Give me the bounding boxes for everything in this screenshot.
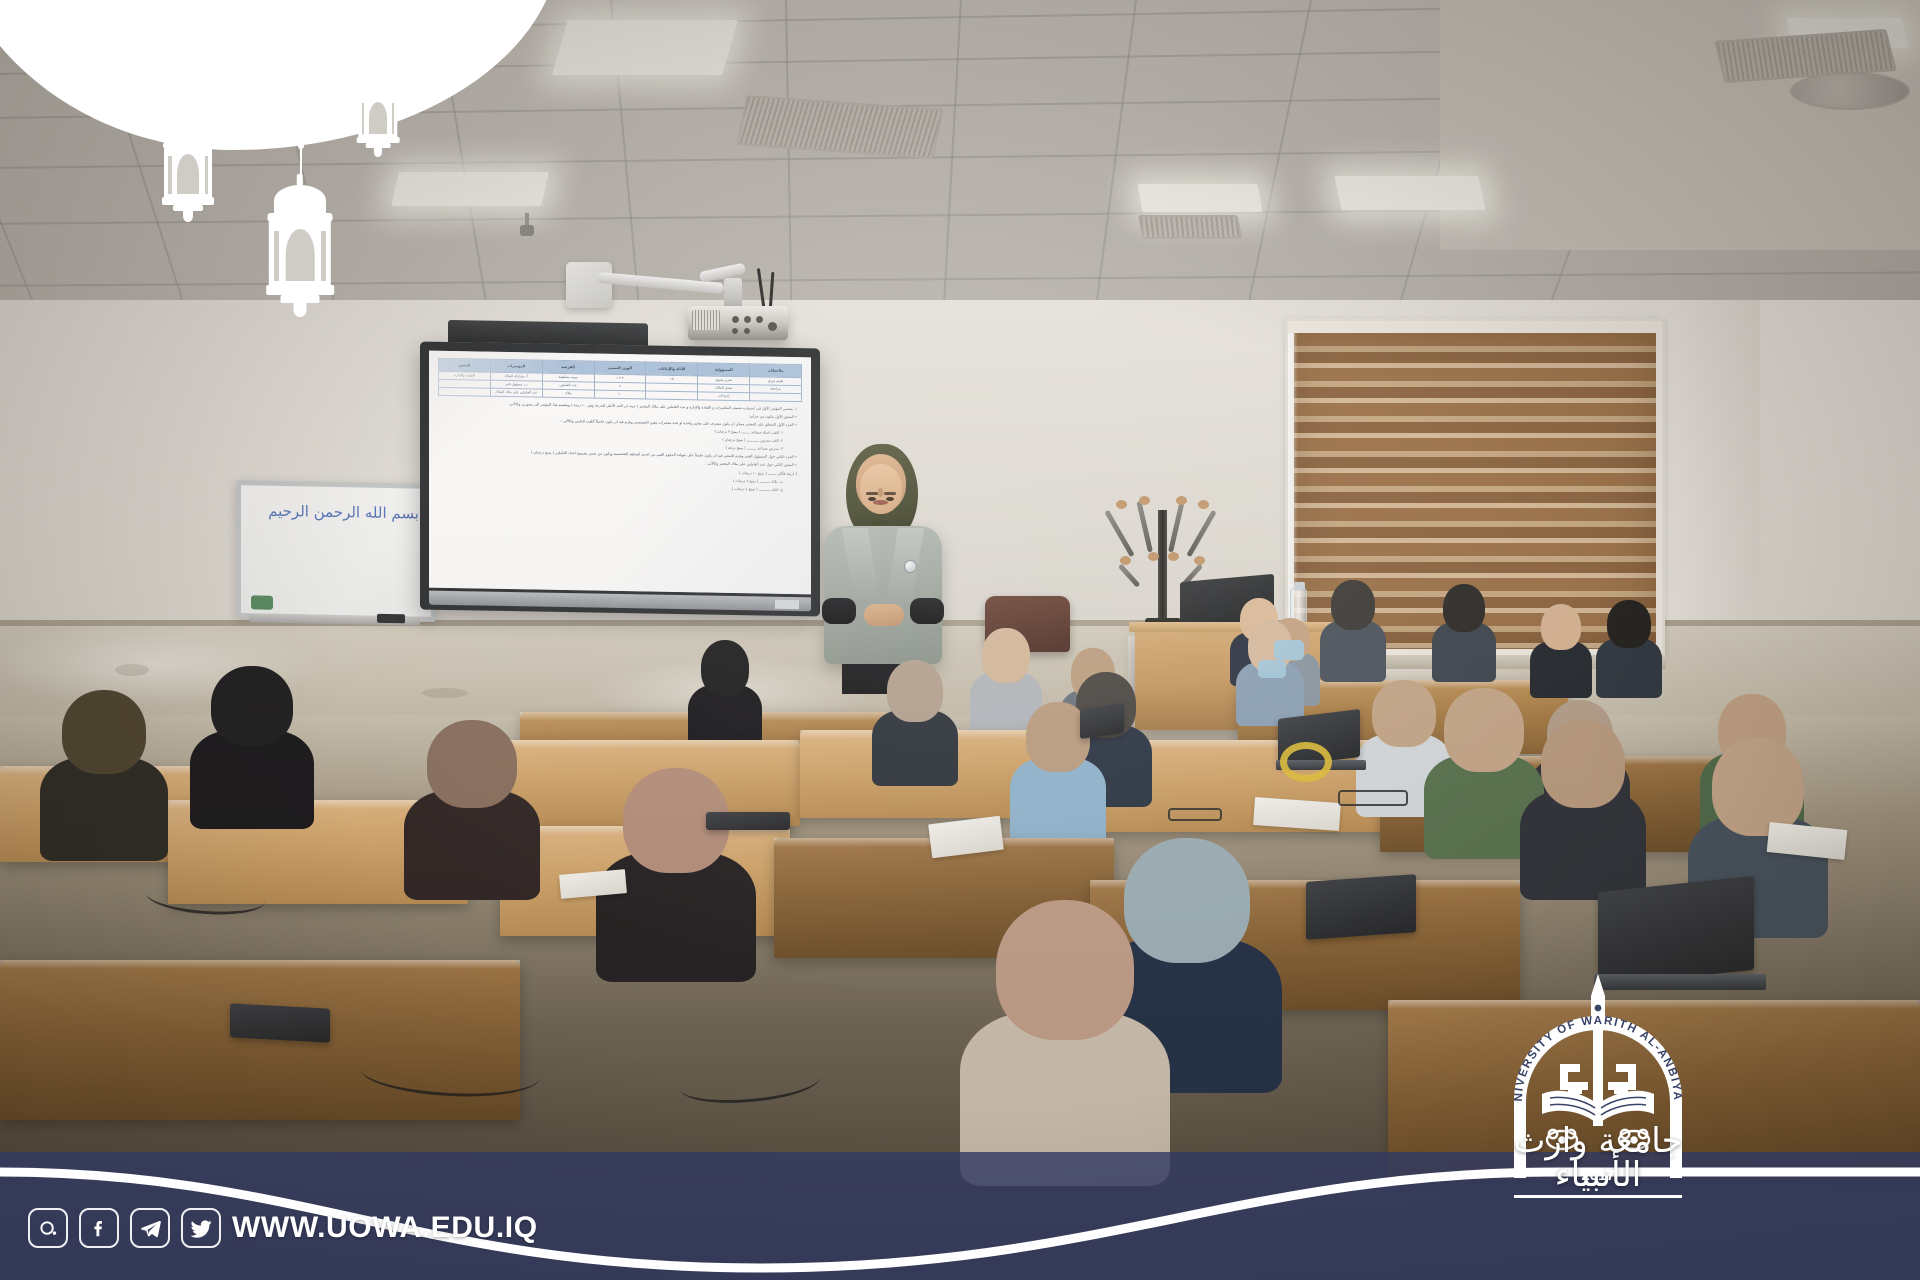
decor-lanterns — [0, 0, 620, 320]
logo-baseline-rule — [1514, 1195, 1682, 1198]
twitter-icon[interactable] — [181, 1208, 221, 1248]
lantern-cord-bead — [376, 61, 382, 67]
audience-person-right-2 — [1520, 720, 1646, 896]
cable-2 — [679, 1058, 822, 1108]
person-head — [211, 666, 293, 746]
lantern-cord-bead — [186, 87, 192, 93]
eyeglasses-2 — [1168, 808, 1222, 821]
ramadan-lantern-icon — [262, 182, 337, 317]
bench-row-bottom — [0, 960, 520, 1120]
person-head — [701, 640, 750, 696]
person-head — [1444, 688, 1523, 772]
audience-person-front-2 — [190, 666, 314, 826]
audience-person-back-3 — [1432, 584, 1496, 680]
person-head — [427, 720, 517, 808]
person-head — [1712, 738, 1804, 836]
audience-person-back-2 — [1320, 580, 1386, 680]
ramadan-lantern-icon — [354, 72, 402, 157]
person-head — [1331, 580, 1375, 630]
audience-person-front-6 — [960, 900, 1170, 1180]
eyeglasses-on-desk — [1338, 790, 1408, 806]
person-head — [1541, 720, 1624, 808]
audience-person-hijab-back-1 — [688, 640, 762, 752]
instagram-icon[interactable] — [28, 1208, 68, 1248]
lantern-cord-bead — [298, 109, 304, 115]
logo-year: 2017 — [1581, 1167, 1614, 1184]
lantern-cord-bead — [186, 104, 192, 110]
person-head — [1541, 604, 1582, 650]
lantern-cord-bead — [376, 52, 382, 58]
person-head — [62, 690, 146, 774]
audience-person-mid-1 — [872, 660, 958, 784]
telegram-icon[interactable] — [130, 1208, 170, 1248]
tablet-3 — [706, 812, 790, 830]
lantern-cord-bead — [298, 143, 304, 149]
person-head — [1443, 584, 1485, 632]
university-logo: UNIVERSITY OF WARITH AL-ANBIYAA — [1498, 968, 1698, 1198]
face-mask-1 — [1274, 640, 1304, 660]
person-head — [1607, 600, 1651, 648]
face-mask-2 — [1258, 660, 1286, 678]
facebook-icon[interactable] — [79, 1208, 119, 1248]
lantern-cord-bead — [186, 70, 192, 76]
person-head — [996, 900, 1135, 1040]
audience-person-back-4 — [1530, 604, 1592, 696]
lantern-cord-bead — [298, 74, 304, 80]
person-head — [887, 660, 944, 722]
social-links[interactable] — [28, 1208, 221, 1248]
tablet-1 — [1080, 703, 1124, 739]
ramadan-lantern-icon — [159, 118, 217, 222]
photo-canvas: بسم الله الرحمن الرحيم المحورالمؤشراتالف… — [0, 0, 1920, 1280]
website-url[interactable]: WWW.UOWA.EDU.IQ — [232, 1208, 538, 1248]
audience-person-back-5 — [1596, 600, 1662, 696]
yellow-cable-coil — [1280, 742, 1332, 782]
paper-2 — [1253, 797, 1341, 831]
person-head — [982, 628, 1030, 683]
svg-text:UNIVERSITY OF WARITH AL-ANBIYA: UNIVERSITY OF WARITH AL-ANBIYAA — [1498, 968, 1684, 1102]
audience-person-front-1 — [40, 690, 168, 858]
lantern-cord — [300, 64, 302, 182]
audience-person-front-3 — [404, 720, 540, 896]
laptop-3 — [1306, 874, 1416, 940]
tablet-2 — [230, 1003, 330, 1042]
